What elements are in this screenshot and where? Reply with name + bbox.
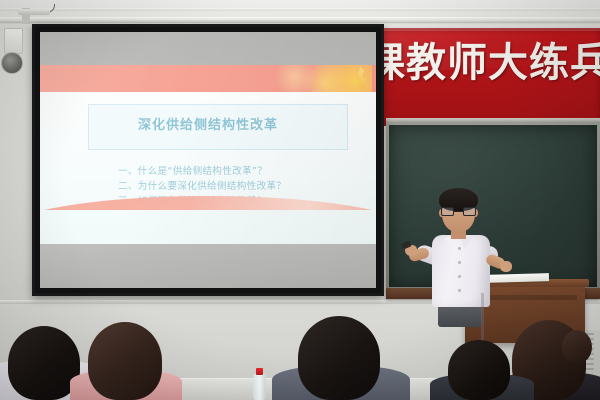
slide-gold-ornament [252,65,372,92]
audience-head [448,340,510,400]
water-bottle [253,374,266,400]
presenter-shirt-button [458,261,461,264]
ceiling-sensor-icon [1,52,23,74]
presenter-shirt-button [458,247,461,250]
projection-screen: 深化供给侧结构性改革 一、什么是“供给侧结构性改革”？ 二、为什么要深化供给侧结… [32,24,384,296]
presenter [410,185,515,320]
audience-head [298,316,380,400]
screen-roller [18,9,50,15]
classroom-photo: 课教师大练兵” 校级 深化供给侧结构性改革 一、什么是“供给侧结构性改革”？ [0,0,600,400]
presenter-shirt [432,235,490,307]
presentation-slide: 深化供给侧结构性改革 一、什么是“供给侧结构性改革”？ 二、为什么要深化供给侧结… [40,32,376,288]
red-banner: 课教师大练兵” 校级 [355,28,600,126]
audience-head [88,322,162,400]
slide-body: 深化供给侧结构性改革 一、什么是“供给侧结构性改革”？ 二、为什么要深化供给侧结… [40,92,376,244]
audience-hair-bun [562,330,592,364]
slide-bullet-2: 二、为什么要深化供给侧结构性改革？ [118,179,362,194]
slide-wave-decoration [40,194,376,210]
wall-speaker-icon [4,28,23,54]
slide-header-band [40,65,376,92]
slide-bullet-1: 一、什么是“供给侧结构性改革”？ [118,164,362,179]
presenter-shirt-button [458,289,461,292]
slide-title: 深化供给侧结构性改革 [40,114,376,133]
slide-bottom-margin [40,252,376,288]
presenter-right-hand [500,261,512,272]
projection-screen-surface: 深化供给侧结构性改革 一、什么是“供给侧结构性改革”？ 二、为什么要深化供给侧结… [40,32,376,288]
ceiling-rail-upper [0,8,600,11]
glasses-icon [441,207,476,216]
presenter-shirt-button [458,275,461,278]
ceiling-rail [0,17,600,22]
slide-top-margin [40,32,376,65]
